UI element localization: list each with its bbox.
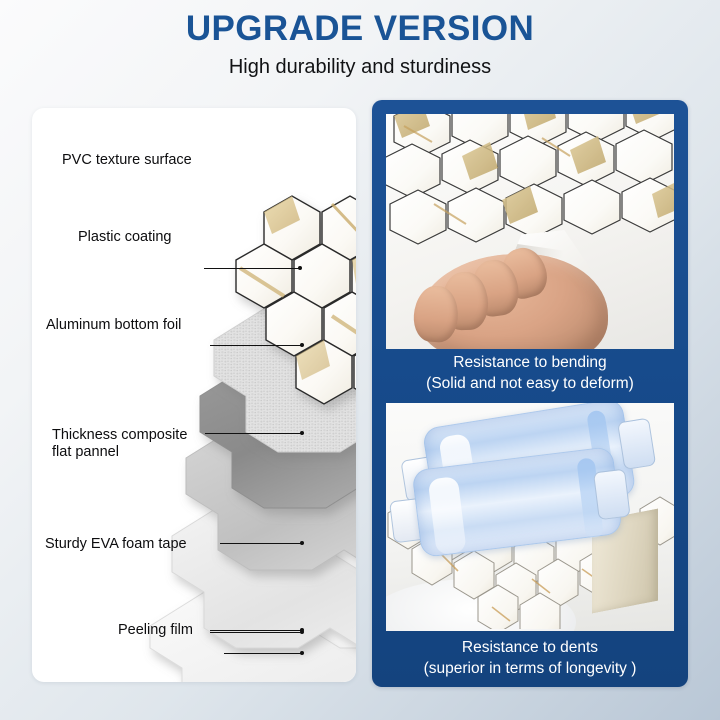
leader-dot-foil: [300, 431, 304, 435]
leader-line-foil: [205, 433, 302, 434]
bottle-cap-right: [593, 469, 631, 521]
caption-resistance-to-dents: Resistance to dents (superior in terms o…: [372, 637, 688, 679]
leader-line-film: [210, 632, 302, 633]
photo-resistance-to-dents: [386, 403, 674, 631]
layer-stack-illustration: [32, 108, 356, 682]
label-thickness-composite-flat-pannel: Thickness composite flat pannel: [52, 427, 187, 461]
leader-line-coating: [210, 345, 302, 346]
leader-dot-panel: [300, 541, 304, 545]
label-pvc-texture-surface: PVC texture surface: [62, 152, 192, 169]
leader-dot-coating: [300, 343, 304, 347]
leader-line-eva: [224, 653, 302, 654]
infographic-canvas: UPGRADE VERSION High durability and stur…: [0, 0, 720, 720]
leader-line-pvc: [204, 268, 300, 269]
leader-line-panel: [220, 543, 302, 544]
caption-line-1: Resistance to bending: [372, 352, 688, 373]
caption-line-1: Resistance to dents: [372, 637, 688, 658]
header: UPGRADE VERSION High durability and stur…: [0, 8, 720, 80]
page-subtitle: High durability and sturdiness: [0, 54, 720, 80]
leader-line-peeling-film: [210, 630, 302, 631]
label-peeling-film: Peeling film: [118, 622, 193, 639]
caption-line-2: (superior in terms of longevity ): [372, 658, 688, 679]
leader-dot-pvc: [298, 266, 302, 270]
page-title: UPGRADE VERSION: [0, 8, 720, 50]
label-sturdy-eva-foam-tape: Sturdy EVA foam tape: [45, 536, 187, 553]
caption-line-2: (Solid and not easy to deform): [372, 373, 688, 394]
label-plastic-coating: Plastic coating: [78, 229, 172, 246]
layer-breakdown-card: [32, 108, 356, 682]
photo-resistance-to-bending: [386, 114, 674, 349]
layer-stack-svg: [32, 108, 356, 682]
caption-resistance-to-bending: Resistance to bending (Solid and not eas…: [372, 352, 688, 394]
label-aluminum-bottom-foil: Aluminum bottom foil: [46, 317, 181, 334]
feature-photo-panel: Resistance to bending (Solid and not eas…: [372, 100, 688, 687]
leader-dot-eva: [300, 651, 304, 655]
leader-dot-peeling-film: [300, 628, 304, 632]
